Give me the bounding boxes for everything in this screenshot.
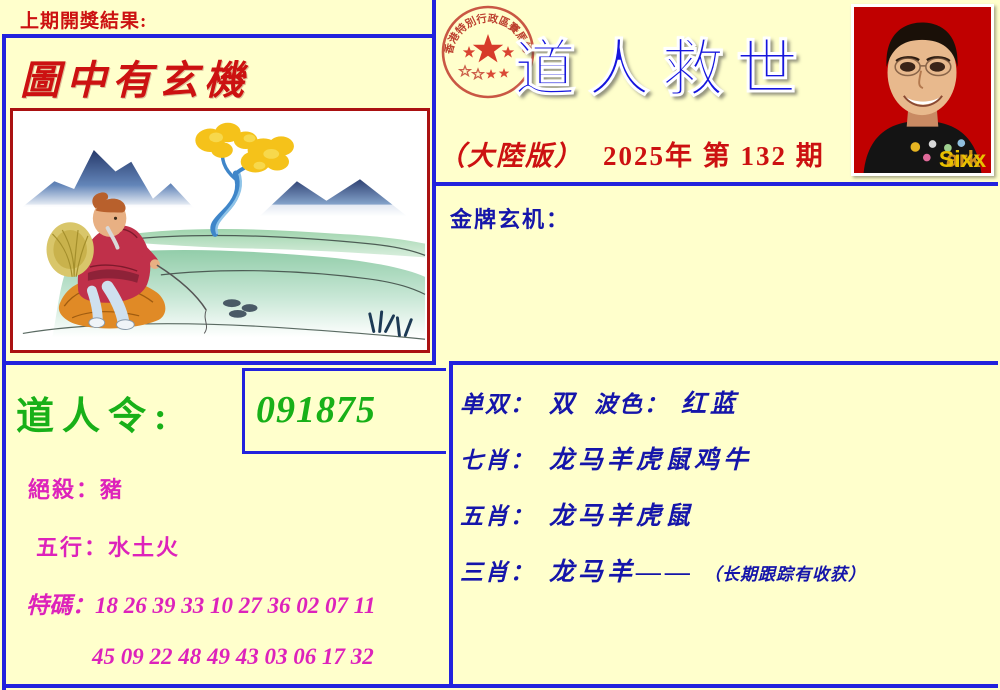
three-zodiac-value: 龙马羊—— xyxy=(549,559,694,586)
predictions-panel: 单双：双波色：红蓝 七肖：龙马羊虎鼠鸡牛 五肖：龙马羊虎鼠 三肖：龙马羊——（长… xyxy=(460,378,998,628)
wave-color-value: 红蓝 xyxy=(681,391,739,418)
frame-bottom-border xyxy=(2,684,998,688)
kill-animal-row: 絕殺：豬 xyxy=(28,472,124,504)
kill-animal-value: 豬 xyxy=(100,477,124,502)
masthead: 香港特別行政區賽馬總會 道人救世 （大陸版）2025年 第 132 xyxy=(436,0,1000,186)
five-zodiac-label: 五肖： xyxy=(460,504,535,529)
prediction-row-five-zodiac: 五肖：龙马羊虎鼠 xyxy=(460,496,998,532)
prediction-row-odd-even: 单双：双波色：红蓝 xyxy=(460,384,998,420)
masthead-title: 道人救世 xyxy=(514,18,810,108)
odd-even-value: 双 xyxy=(549,391,578,418)
special-code-row-1: 特碼：18 26 39 33 10 27 36 02 07 11 xyxy=(26,586,375,620)
last-result-label: 上期開獎結果: xyxy=(20,6,147,33)
wave-color-label: 波色： xyxy=(594,392,669,417)
seven-zodiac-label: 七肖： xyxy=(460,448,535,473)
daoren-order-code[interactable]: 091875 xyxy=(256,388,376,432)
last-result-box: 上期開獎結果: xyxy=(2,0,436,38)
three-zodiac-label: 三肖： xyxy=(460,560,535,585)
gold-tip-label: 金牌玄机： xyxy=(450,202,570,234)
column-divider xyxy=(449,365,453,688)
code-cell-left-border xyxy=(242,368,245,454)
five-elements-value: 水土火 xyxy=(108,535,180,560)
odd-even-label: 单双： xyxy=(460,392,535,417)
code-cell-top-border xyxy=(242,368,446,371)
code-cell-bottom-border xyxy=(242,451,446,454)
gold-panel-bottom-divider xyxy=(449,361,998,365)
five-elements-label: 五行： xyxy=(36,535,108,560)
riddle-title: 圖中有玄機 xyxy=(20,48,250,106)
five-zodiac-value: 龙马羊虎鼠 xyxy=(549,503,694,530)
riddle-picture[interactable] xyxy=(10,108,430,353)
portrait-artwork: ark Sixx xyxy=(854,7,991,173)
edition-line: （大陸版）2025年 第 132 期 xyxy=(438,134,825,173)
prediction-row-three-zodiac: 三肖：龙马羊——（长期跟踪有收获） xyxy=(460,552,998,588)
gold-tip-panel[interactable]: 金牌玄机： xyxy=(436,186,998,365)
issue-label: 2025年 第 132 期 xyxy=(603,141,825,171)
seven-zodiac-value: 龙马羊虎鼠鸡牛 xyxy=(549,447,752,474)
special-code-values-2: 45 09 22 48 49 43 03 06 17 32 xyxy=(92,644,374,669)
portrait-photo: ark Sixx xyxy=(851,4,994,176)
riddle-picture-artwork xyxy=(13,111,427,350)
three-zodiac-note: （长期跟踪有收获） xyxy=(704,565,866,584)
five-elements-row: 五行：水土火 xyxy=(36,530,180,562)
svg-text:Sixx: Sixx xyxy=(939,146,986,172)
special-code-label: 特碼： xyxy=(26,593,95,618)
prediction-row-seven-zodiac: 七肖：龙马羊虎鼠鸡牛 xyxy=(460,440,998,476)
lottery-tipsheet-page: 上期開獎結果: 圖中有玄機 xyxy=(0,0,1000,690)
picture-bottom-divider xyxy=(2,361,436,365)
daoren-order-label: 道人令: xyxy=(16,385,175,440)
special-code-row-2: 45 09 22 48 49 43 03 06 17 32 xyxy=(92,644,374,670)
special-code-values-1: 18 26 39 33 10 27 36 02 07 11 xyxy=(95,593,375,618)
frame-left-border xyxy=(2,0,6,690)
kill-animal-label: 絕殺： xyxy=(28,477,100,502)
edition-label: （大陸版） xyxy=(438,141,583,171)
